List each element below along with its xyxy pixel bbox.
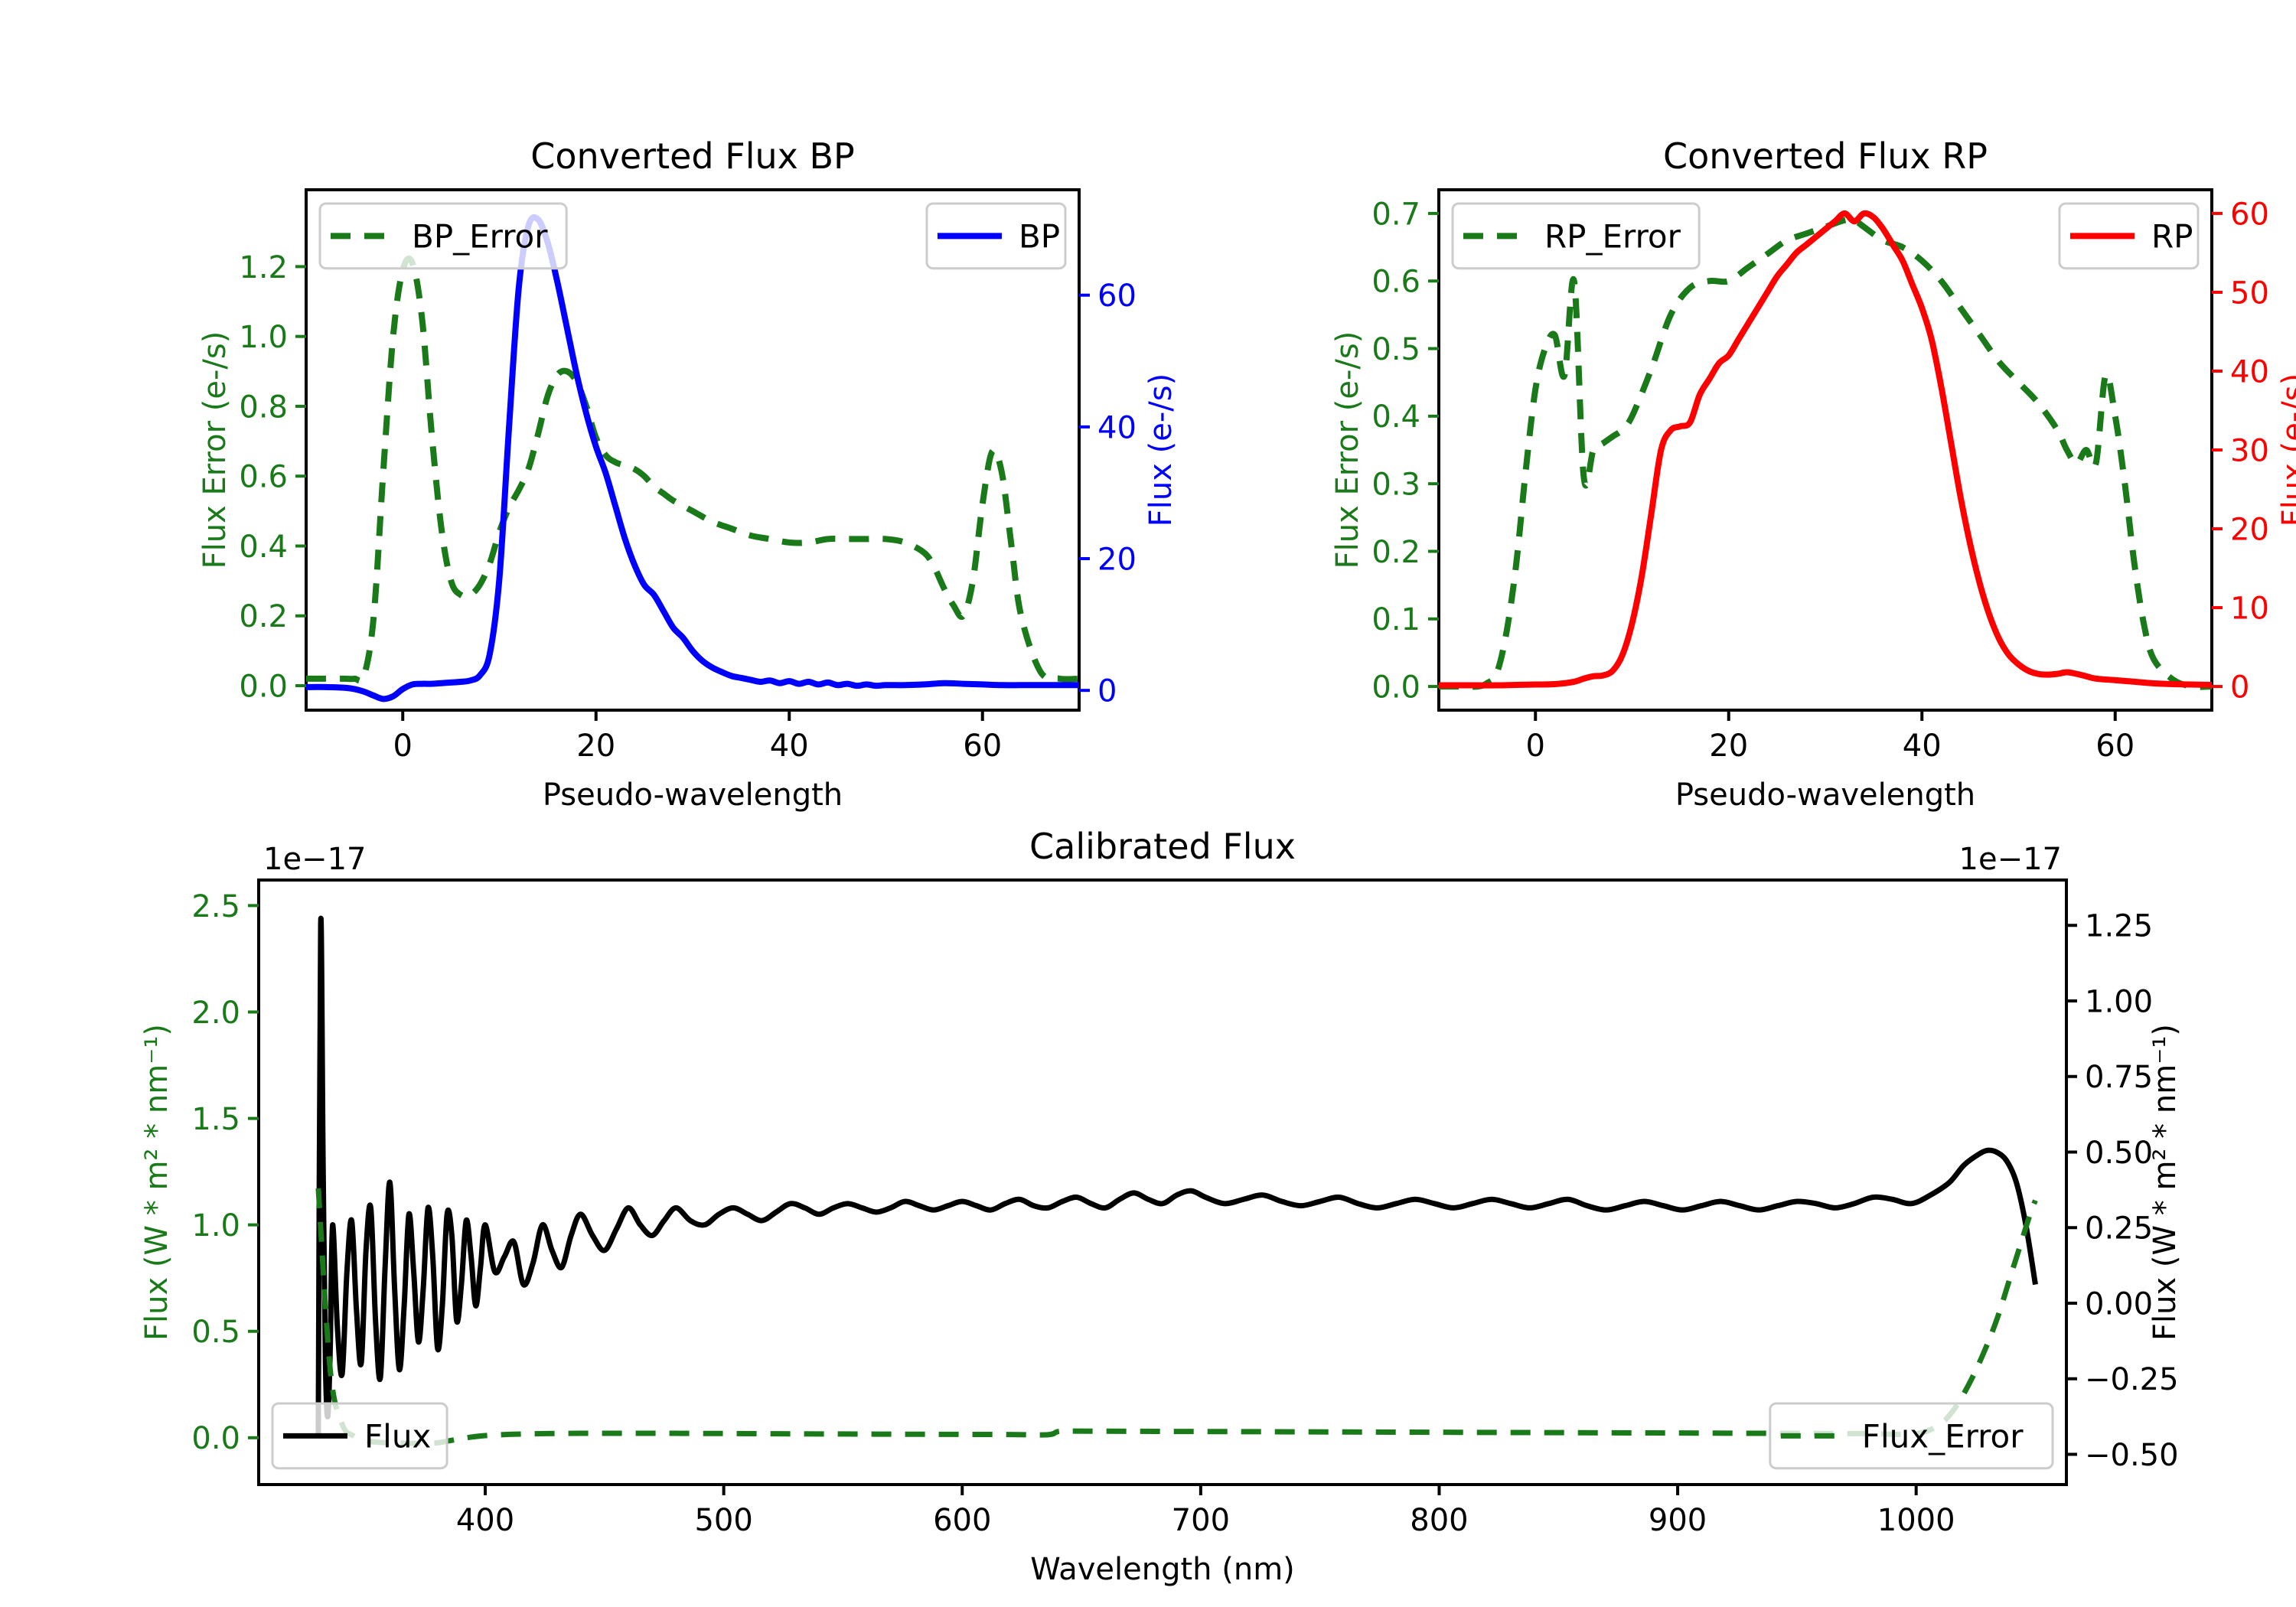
y-tick-label-left: 0.2 [1371,535,1420,570]
y-tick-label-left: 0.1 [1371,602,1420,637]
y-offset-left-calibrated: 1e−17 [263,842,366,877]
y-tick-label-right: 0.75 [2085,1060,2153,1095]
y-tick-label-left: 1.0 [239,320,288,355]
series-BP [306,217,1079,699]
y-axis-label-left-rp: Flux Error (e-/s) [1330,331,1365,569]
x-tick-label: 20 [1709,729,1748,764]
y-tick-label-right: 50 [2230,275,2269,311]
y-tick-label-left: 0.4 [1371,399,1420,435]
chart-calibrated: Calibrated Flux4005006007008009001000Wav… [0,826,2296,1607]
y-axis-right-calibrated: −0.50−0.250.000.250.500.751.001.251e−17F… [1959,842,2183,1473]
y-tick-label-right: 0.25 [2085,1211,2153,1247]
x-tick-label: 600 [933,1503,991,1538]
x-tick-label: 40 [1903,729,1942,764]
y-tick-label-left: 1.0 [191,1208,240,1244]
panel-converted-flux-bp: Converted Flux BP0204060Pseudo-wavelengt… [0,0,1148,826]
y-tick-label-left: 0.7 [1371,197,1420,232]
legend-rp-left: RP_Error [1453,204,1699,269]
y-axis-label-right-rp: Flux (e-/s) [2276,373,2296,526]
x-tick-label: 60 [2095,729,2135,764]
y-axis-label-left-bp: Flux Error (e-/s) [197,331,233,569]
legend-rp-right: RP [2060,204,2198,269]
x-tick-label: 700 [1172,1503,1230,1538]
y-axis-label-right-calibrated: Flux (W * m² * nm⁻¹) [2148,1024,2183,1341]
y-tick-label-left: 1.5 [191,1102,240,1137]
chart-bp: Converted Flux BP0204060Pseudo-wavelengt… [0,0,1148,826]
x-axis-label-rp: Pseudo-wavelength [1675,777,1975,813]
panel-calibrated-flux: Calibrated Flux4005006007008009001000Wav… [0,826,2296,1607]
x-axis-label-calibrated: Wavelength (nm) [1030,1552,1295,1587]
y-offset-right-calibrated: 1e−17 [1959,842,2062,877]
y-tick-label-right: 1.25 [2085,909,2153,944]
y-tick-label-right: 40 [1097,410,1137,445]
legend-label-BP: BP [1019,217,1060,255]
legend-label-BP_Error: BP_Error [412,217,548,255]
x-tick-label: 40 [770,729,809,764]
y-tick-label-left: 0.0 [191,1421,240,1456]
y-tick-label-left: 0.2 [239,599,288,634]
y-axis-right-rp: 0102030405060Flux (e-/s) [2212,197,2296,705]
legend-label-Flux: Flux [364,1417,431,1455]
chart-rp: Converted Flux RP0204060Pseudo-wavelengt… [1133,0,2296,826]
y-tick-label-right: −0.50 [2085,1438,2179,1473]
y-tick-label-right: 0 [1097,674,1117,709]
x-tick-label: 1000 [1877,1503,1955,1538]
y-tick-label-left: 0.0 [239,669,288,704]
y-tick-label-right: 1.00 [2085,984,2153,1019]
axes-frame-calibrated [259,880,2066,1485]
panel-title-bp: Converted Flux BP [530,135,855,177]
x-tick-label: 400 [456,1503,514,1538]
curves-bp [306,217,1079,699]
y-tick-label-right: 60 [1097,279,1137,314]
legend-label-Flux_Error: Flux_Error [1862,1417,2024,1455]
y-tick-label-left: 0.0 [1371,670,1420,705]
x-tick-label: 800 [1410,1503,1468,1538]
y-tick-label-right: 0.50 [2085,1136,2153,1171]
y-tick-label-left: 0.6 [239,460,288,495]
series-RP_Error [1439,220,2212,687]
y-tick-label-left: 0.3 [1371,468,1420,503]
y-tick-label-right: 40 [2230,354,2269,390]
curves-rp [1439,214,2212,687]
series-BP_Error [306,259,1079,681]
y-axis-label-left-calibrated: Flux (W * m² * nm⁻¹) [139,1024,174,1341]
y-tick-label-right: 10 [2230,591,2269,626]
panel-title-calibrated: Calibrated Flux [1029,826,1296,867]
figure-canvas: Converted Flux BP0204060Pseudo-wavelengt… [0,0,2296,1607]
panel-converted-flux-rp: Converted Flux RP0204060Pseudo-wavelengt… [1133,0,2296,826]
legend-label-RP: RP [2151,217,2193,255]
y-tick-label-right: 0.00 [2085,1286,2153,1322]
x-tick-label: 20 [576,729,615,764]
panel-title-rp: Converted Flux RP [1663,135,1988,177]
y-tick-label-right: 0 [2230,670,2249,705]
curves-calibrated [318,918,2036,1443]
x-tick-label: 900 [1649,1503,1707,1538]
y-tick-label-right: 30 [2230,433,2269,468]
x-tick-label: 500 [694,1503,752,1538]
x-axis-rp: 0204060Pseudo-wavelength [1526,710,2135,813]
y-tick-label-left: 2.5 [191,889,240,924]
y-tick-label-right: 20 [2230,512,2269,547]
y-tick-label-left: 1.2 [239,250,288,285]
y-tick-label-left: 2.0 [191,996,240,1031]
y-tick-label-left: 0.5 [1371,332,1420,367]
y-tick-label-right: −0.25 [2085,1362,2179,1397]
y-axis-left-bp: 0.00.20.40.60.81.01.2Flux Error (e-/s) [197,250,306,705]
x-axis-calibrated: 4005006007008009001000Wavelength (nm) [456,1485,1955,1587]
y-tick-label-left: 0.5 [191,1315,240,1350]
x-tick-label: 60 [963,729,1002,764]
y-tick-label-left: 0.6 [1371,265,1420,300]
legend-bp-right: BP [927,204,1065,269]
series-Flux [318,918,2036,1433]
legend-bp-left: BP_Error [320,204,566,269]
legend-calibrated-right: Flux_Error [1770,1403,2053,1468]
y-tick-label-left: 0.4 [239,530,288,565]
x-axis-label-bp: Pseudo-wavelength [543,777,843,813]
x-tick-label: 0 [1526,729,1545,764]
y-tick-label-left: 0.8 [239,390,288,425]
y-tick-label-right: 60 [2230,197,2269,232]
y-axis-left-rp: 0.00.10.20.30.40.50.60.7Flux Error (e-/s… [1330,197,1439,705]
y-tick-label-right: 20 [1097,542,1137,577]
x-tick-label: 0 [393,729,413,764]
legend-label-RP_Error: RP_Error [1544,217,1681,255]
x-axis-bp: 0204060Pseudo-wavelength [393,710,1003,813]
legend-calibrated-left: Flux [272,1403,447,1468]
